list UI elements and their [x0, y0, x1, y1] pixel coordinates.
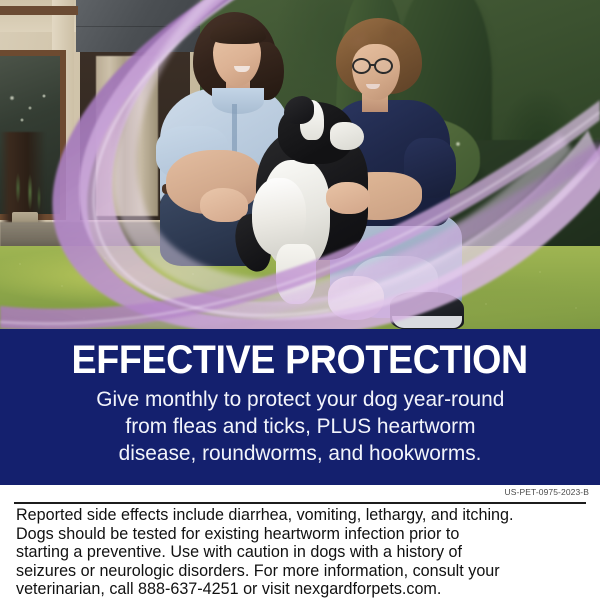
footer-divider-rule: [14, 502, 586, 504]
dog-paw: [328, 276, 384, 320]
boy-glasses-left-lens-icon: [352, 58, 371, 74]
house-wall-lintel: [0, 6, 78, 15]
boy-hand-on-dog: [326, 182, 370, 214]
promo-banner: EFFECTIVE PROTECTION Give monthly to pro…: [0, 329, 600, 485]
window-reflection: [4, 90, 54, 128]
boy-glasses-bridge-icon: [370, 64, 376, 66]
dog-leg: [276, 244, 316, 304]
fineprint-text: Reported side effects include diarrhea, …: [16, 506, 579, 599]
dog-ear: [284, 96, 314, 124]
fineprint-line-5: veterinarian, call 888-637-4251 or visit…: [16, 580, 579, 599]
fineprint-line-1: Reported side effects include diarrhea, …: [16, 506, 579, 525]
fineprint-line-4: seizures or neurologic disorders. For mo…: [16, 562, 579, 581]
fineprint-line-3: starting a preventive. Use with caution …: [16, 543, 579, 562]
banner-subcopy-line-1: Give monthly to protect your dog year-ro…: [96, 386, 504, 413]
disclaimer-footer: US-PET-0975-2023-B Reported side effects…: [0, 485, 600, 600]
banner-subcopy-line-2: from fleas and ticks, PLUS heartworm: [125, 413, 475, 440]
product-code-label: US-PET-0975-2023-B: [505, 487, 589, 497]
dog-muzzle: [330, 122, 364, 150]
banner-headline: EFFECTIVE PROTECTION: [72, 338, 528, 382]
boy-shoe-sole: [392, 316, 462, 328]
window-curtain: [96, 56, 158, 216]
boy-glasses-right-lens-icon: [374, 58, 393, 74]
woman-collar: [212, 88, 264, 114]
fineprint-line-2: Dogs should be tested for existing heart…: [16, 525, 579, 544]
advertisement-card: EFFECTIVE PROTECTION Give monthly to pro…: [0, 0, 600, 600]
banner-subcopy-line-3: disease, roundworms, and hookworms.: [119, 440, 482, 467]
stone-wall-panel: [76, 0, 200, 52]
hero-photo: [0, 0, 600, 329]
